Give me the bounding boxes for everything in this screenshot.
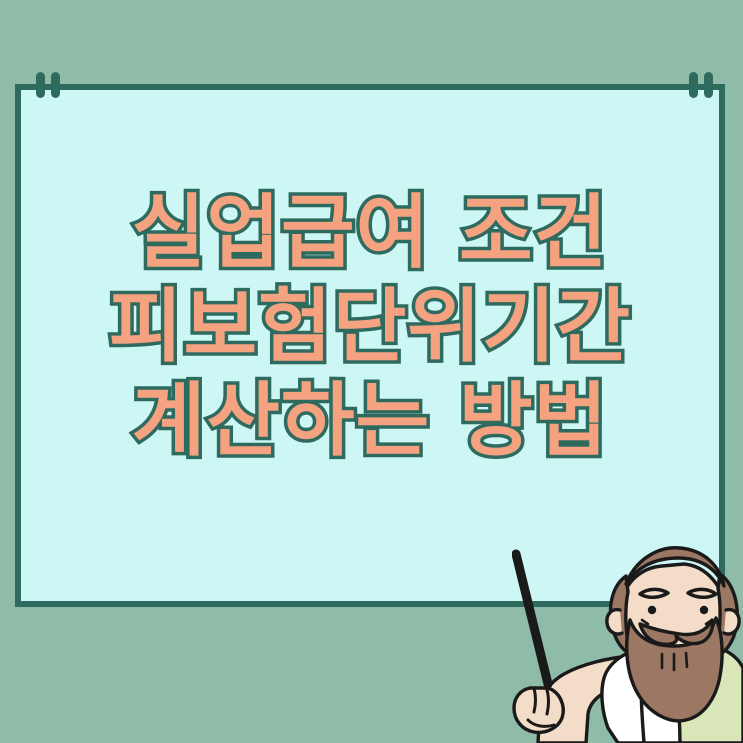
clip-top-right-1 bbox=[689, 72, 698, 98]
eyebrow-right bbox=[688, 589, 716, 597]
eyebrow-left bbox=[640, 589, 668, 597]
socrates-teacher-illustration bbox=[512, 528, 743, 743]
pointer-stick bbox=[516, 554, 548, 684]
title-line-3: 계산하는 방법 bbox=[15, 374, 725, 468]
title-line-2: 피보험단위기간 bbox=[15, 280, 725, 374]
eye-right bbox=[700, 606, 708, 614]
poster-canvas: 실업급여 조건 피보험단위기간 계산하는 방법 bbox=[0, 0, 743, 743]
finger-line-1 bbox=[534, 688, 536, 712]
eye-left bbox=[648, 606, 656, 614]
ear-right bbox=[724, 610, 739, 634]
beard-line-3 bbox=[686, 653, 687, 667]
ear-left bbox=[607, 610, 622, 634]
poster-title: 실업급여 조건 피보험단위기간 계산하는 방법 bbox=[15, 186, 725, 468]
title-line-1: 실업급여 조건 bbox=[15, 186, 725, 280]
clip-top-left-1 bbox=[36, 72, 45, 98]
clip-top-right-2 bbox=[704, 72, 713, 98]
clip-top-left-2 bbox=[51, 72, 60, 98]
